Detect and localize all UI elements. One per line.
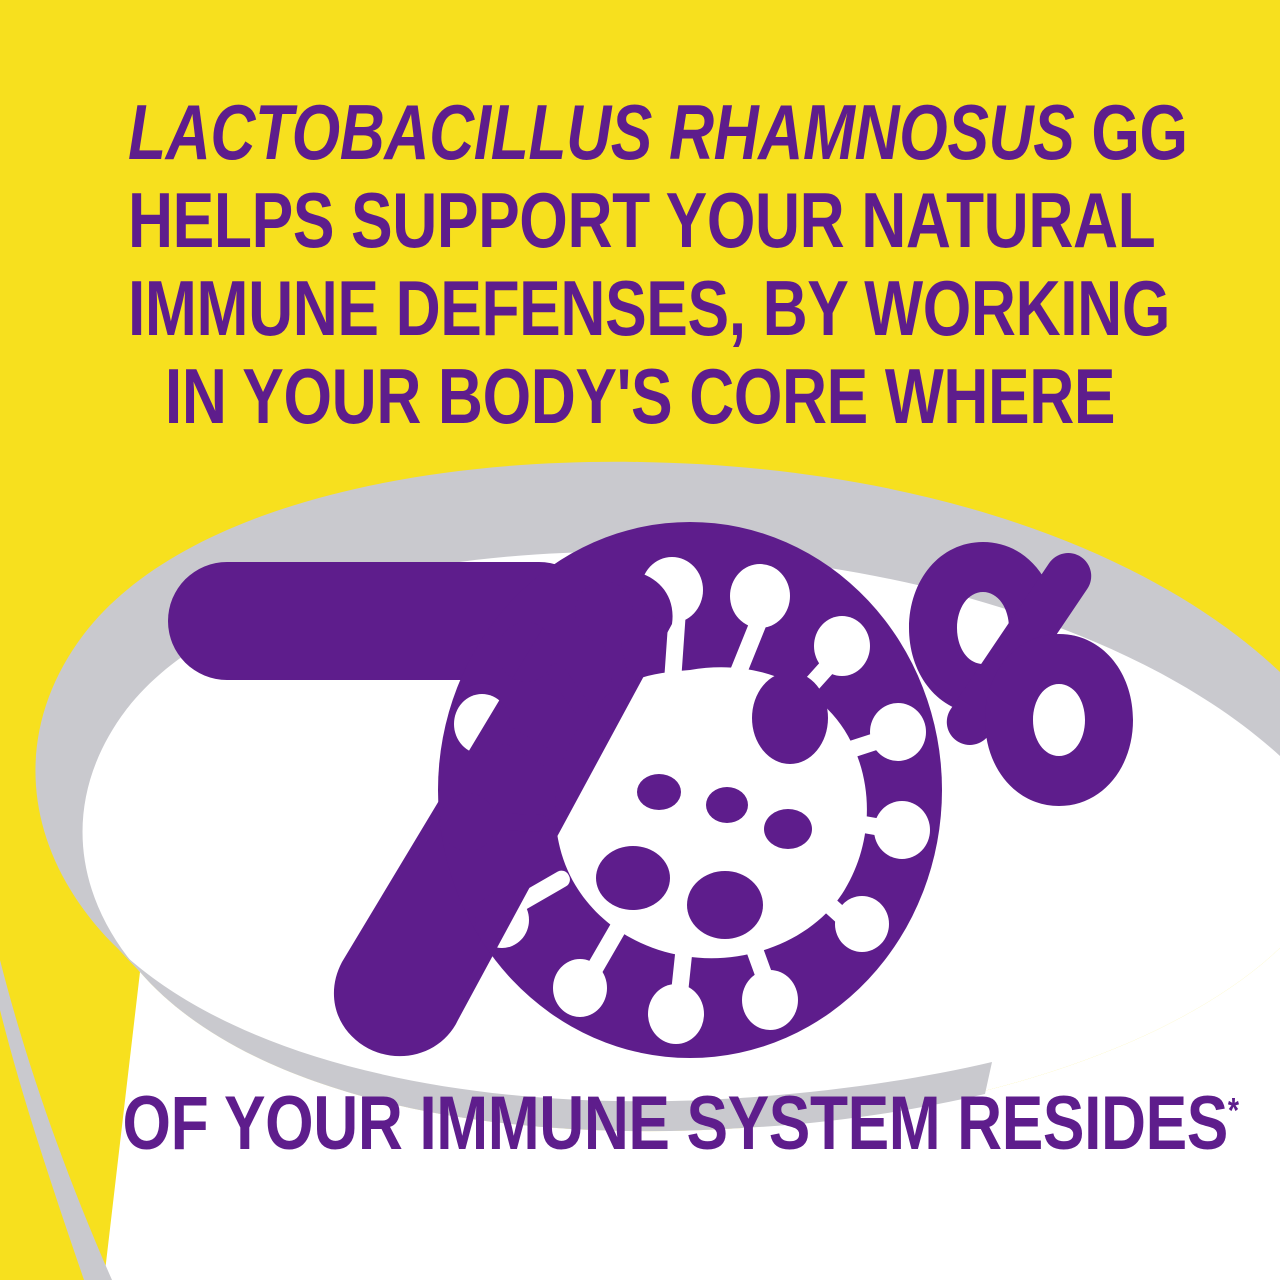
caption-text: OF YOUR IMMUNE SYSTEM RESIDES (123, 1081, 1228, 1166)
footnote-asterisk: * (1228, 1092, 1239, 1131)
headline-block: LACTOBACILLUS RHAMNOSUS GG HELPS SUPPORT… (0, 88, 1280, 440)
headline-line-1-italic: LACTOBACILLUS RHAMNOSUS (128, 88, 1074, 176)
numeral-zero-with-germ (438, 522, 942, 1058)
caption-block: OF YOUR IMMUNE SYSTEM RESIDES* (0, 1082, 1280, 1166)
caption-line: OF YOUR IMMUNE SYSTEM RESIDES* (123, 1082, 1239, 1166)
headline-line-3: IMMUNE DEFENSES, BY WORKING (128, 264, 1152, 352)
headline-line-4: IN YOUR BODY'S CORE WHERE (128, 352, 1152, 440)
headline-line-1-upright: GG (1074, 88, 1187, 176)
statistic-seventy-percent: 70% (0, 500, 1280, 1060)
headline-line-1: LACTOBACILLUS RHAMNOSUS GG (128, 88, 1152, 176)
headline-line-2: HELPS SUPPORT YOUR NATURAL (128, 176, 1152, 264)
promo-graphic: LACTOBACILLUS RHAMNOSUS GG HELPS SUPPORT… (0, 0, 1280, 1280)
zero-ellipse (438, 522, 942, 1058)
percent-sign (909, 542, 1133, 806)
